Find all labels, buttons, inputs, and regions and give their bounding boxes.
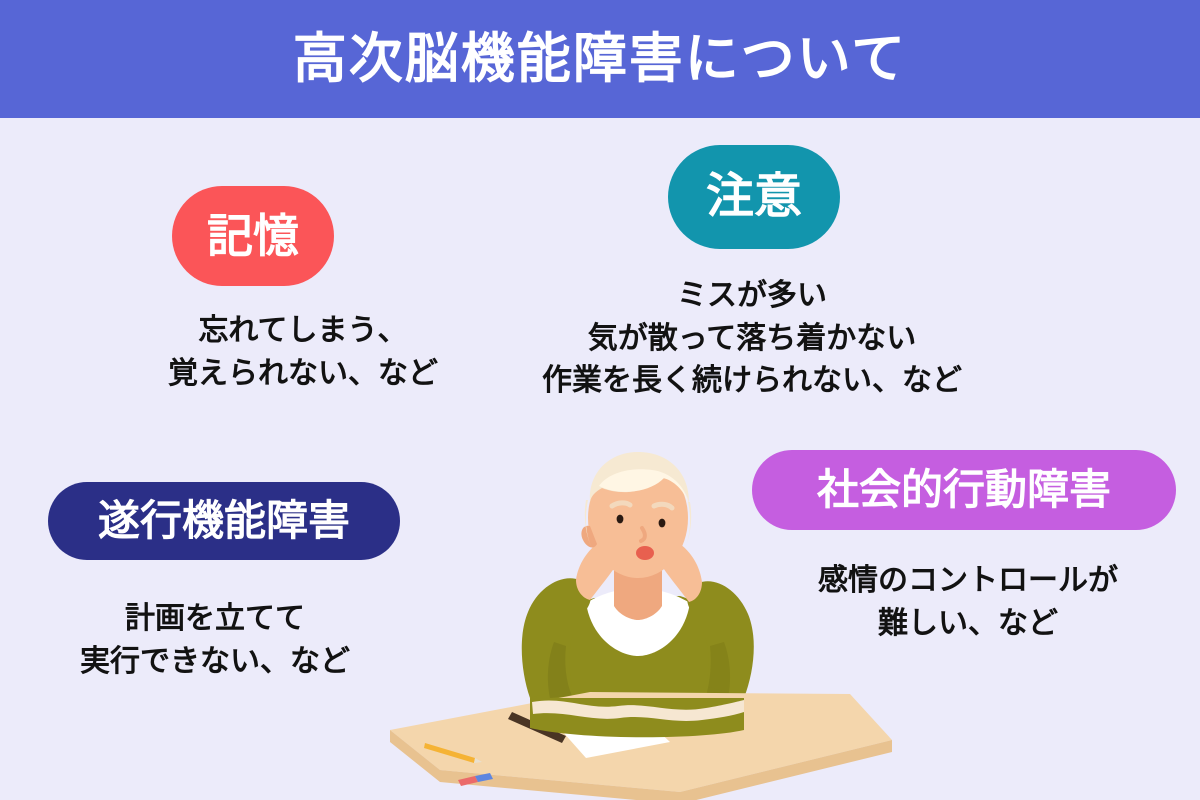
badge-memory: 記憶 xyxy=(172,186,334,286)
description-executive-line-2: 実行できない、など xyxy=(20,641,410,684)
illustration-distressed-person-at-desk xyxy=(380,440,900,800)
badge-attention: 注意 xyxy=(668,145,840,249)
description-memory: 忘れてしまう、 覚えられない、など xyxy=(108,310,498,395)
eye-left xyxy=(617,515,624,524)
description-memory-line-1: 忘れてしまう、 xyxy=(108,310,498,353)
description-memory-line-2: 覚えられない、など xyxy=(108,353,498,396)
mouth-shape xyxy=(636,546,654,560)
badge-executive-dysfunction-label: 遂行機能障害 xyxy=(98,500,350,542)
description-attention-line-3: 作業を長く続けられない、など xyxy=(482,360,1022,403)
infographic-page: 高次脳機能障害について 記憶 忘れてしまう、 覚えられない、など 注意 ミスが多… xyxy=(0,0,1200,800)
description-executive-line-1: 計画を立てて xyxy=(20,598,410,641)
description-attention-line-1: ミスが多い xyxy=(482,275,1022,318)
description-attention-line-2: 気が散って落ち着かない xyxy=(482,318,1022,361)
eye-right xyxy=(659,519,666,528)
badge-attention-label: 注意 xyxy=(706,173,802,221)
badge-executive-dysfunction: 遂行機能障害 xyxy=(48,482,400,560)
description-executive-dysfunction: 計画を立てて 実行できない、など xyxy=(20,598,410,683)
badge-memory-label: 記憶 xyxy=(207,213,299,259)
header-banner: 高次脳機能障害について xyxy=(0,0,1200,118)
page-title: 高次脳機能障害について xyxy=(293,32,907,86)
description-attention: ミスが多い 気が散って落ち着かない 作業を長く続けられない、など xyxy=(482,275,1022,403)
